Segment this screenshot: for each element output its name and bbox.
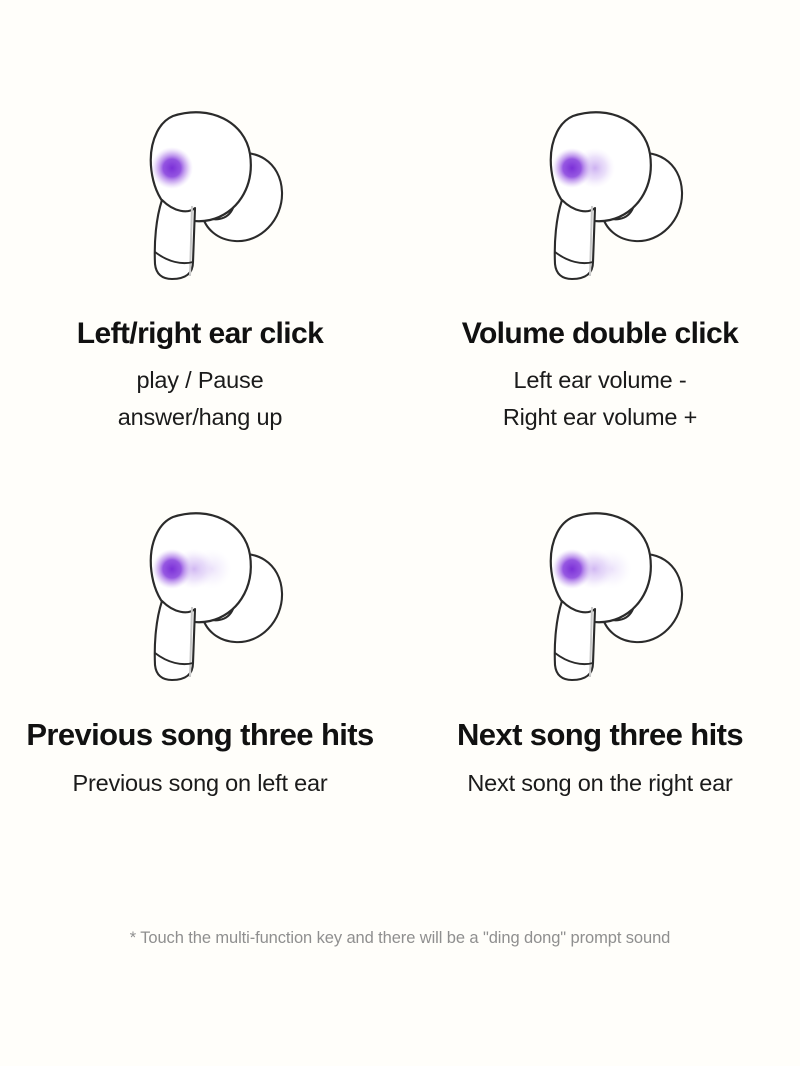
- card-line-2: answer/hang up: [118, 400, 282, 435]
- control-card-left-right-ear-click: Left/right ear click play / Pause answer…: [0, 96, 400, 435]
- card-title: Volume double click: [462, 316, 738, 351]
- footnote-text: * Touch the multi-function key and there…: [0, 929, 800, 948]
- card-title: Left/right ear click: [77, 316, 323, 351]
- card-line-1: Previous song on left ear: [73, 766, 328, 801]
- control-card-previous-song-three-hits: Previous song three hits Previous song o…: [0, 497, 400, 800]
- instruction-sheet: Left/right ear click play / Pause answer…: [0, 0, 800, 1066]
- earbud-icon: [85, 96, 315, 286]
- control-card-next-song-three-hits: Next song three hits Next song on the ri…: [400, 497, 800, 800]
- card-title: Next song three hits: [457, 717, 743, 754]
- control-card-volume-double-click: Volume double click Left ear volume - Ri…: [400, 96, 800, 435]
- card-line-1: Next song on the right ear: [467, 766, 732, 801]
- earbud-icon: [85, 497, 315, 687]
- card-title: Previous song three hits: [26, 717, 373, 754]
- card-line-1: Left ear volume -: [514, 363, 687, 398]
- controls-grid: Left/right ear click play / Pause answer…: [0, 96, 800, 800]
- card-line-1: play / Pause: [137, 363, 264, 398]
- earbud-icon: [485, 497, 715, 687]
- card-line-2: Right ear volume +: [503, 400, 697, 435]
- earbud-icon: [485, 96, 715, 286]
